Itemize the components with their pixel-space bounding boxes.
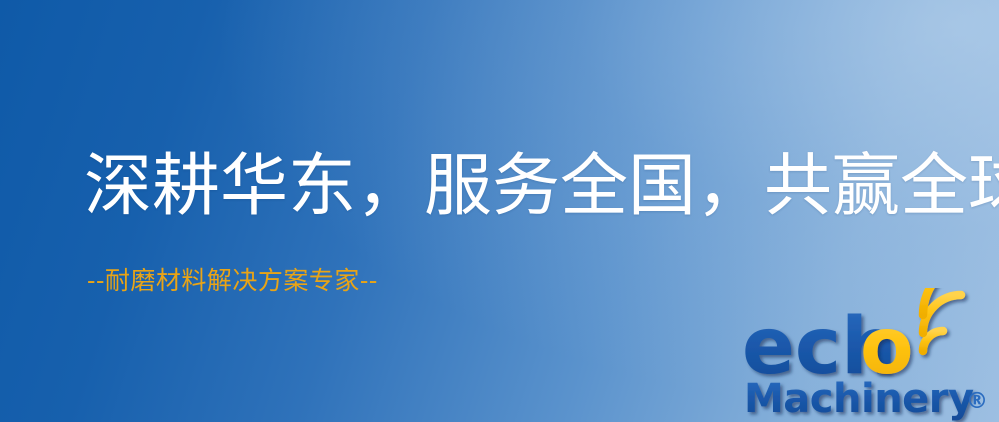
hero-banner: 深耕华东，服务全国，共赢全球 --耐磨材料解决方案专家-- bbox=[0, 0, 999, 422]
banner-headline: 深耕华东，服务全国，共赢全球 bbox=[84, 153, 999, 221]
logo-machinery-text: Machinery bbox=[744, 376, 974, 422]
registered-trademark-icon: ® bbox=[966, 389, 988, 414]
signal-arcs-icon bbox=[923, 288, 979, 351]
banner-subtitle: --耐磨材料解决方案专家-- bbox=[87, 268, 378, 293]
echo-machinery-logo[interactable]: ech o Machinery ® bbox=[740, 288, 999, 422]
